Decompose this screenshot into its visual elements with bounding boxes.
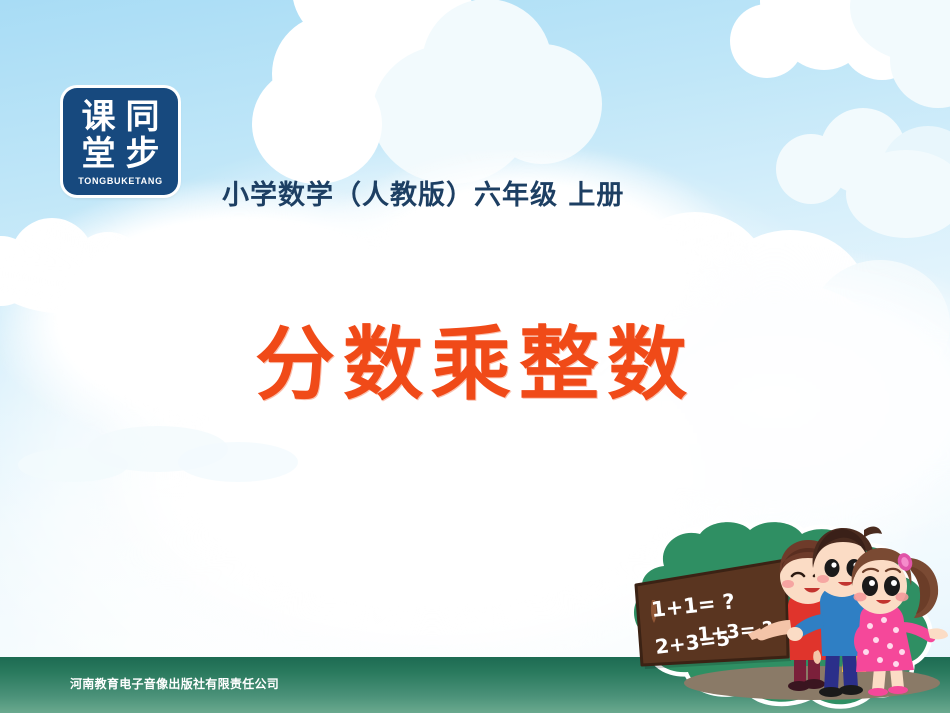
logo-pinyin: TONGBUKETANG [78,176,163,186]
logo-char-ke: 课 [77,99,121,136]
publisher-text: 河南教育电子音像出版社有限责任公司 [70,675,279,692]
tongbuketang-logo[interactable]: 课 同 堂 步 TONGBUKETANG [63,88,178,195]
logo-char-tang: 堂 [77,136,121,173]
cloud-bottom-left [18,420,298,530]
logo-characters: 课 同 堂 步 [77,99,165,173]
logo-char-tong: 同 [121,99,165,136]
logo-char-bu: 步 [121,136,165,173]
course-subtitle: 小学数学（人教版）六年级 上册 [222,173,624,212]
children-at-blackboard-illustration: 1+1= ? 1+3= ? 2+3=5 [612,522,950,713]
cloud-top-center [272,0,602,174]
slide-root: 课 同 堂 步 TONGBUKETANG 小学数学（人教版）六年级 上册 分数乘… [0,0,950,713]
lesson-title: 分数乘整数 [0,318,950,410]
